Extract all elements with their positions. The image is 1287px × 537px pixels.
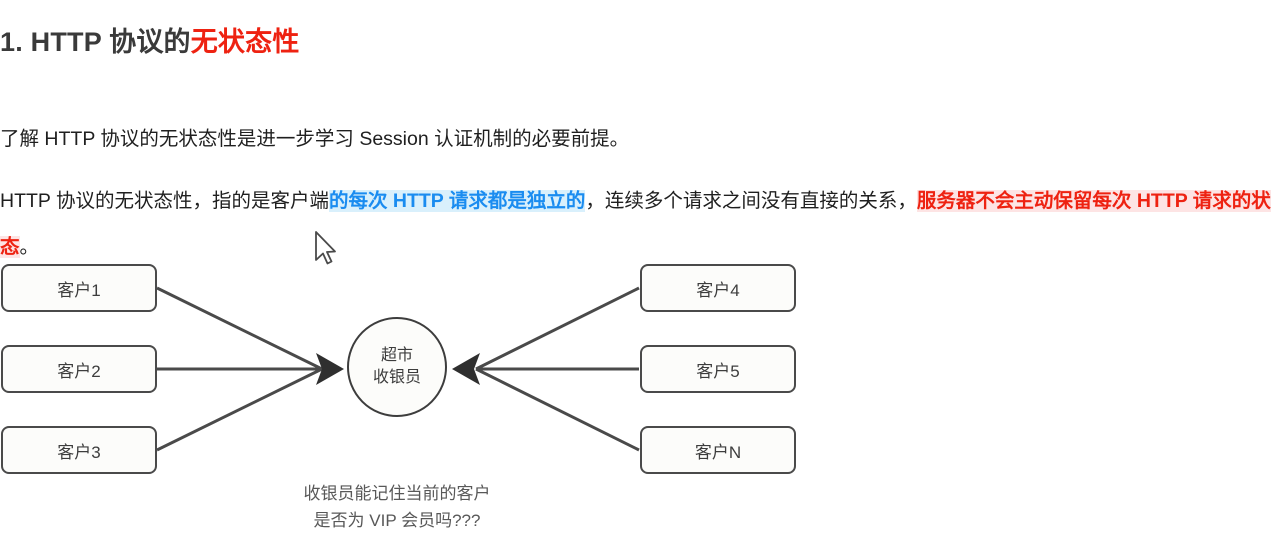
stateless-http-diagram: 客户1 客户2 客户3 客户4 客户5 客户N 超市 收银员 收银员能记住当前的… [0, 255, 830, 537]
connector-client4 [476, 288, 639, 369]
cashier-node-line1: 超市 [381, 345, 413, 367]
main-paragraph-segment-1: HTTP 协议的无状态性，指的是客户端 [0, 190, 329, 212]
diagram-caption: 收银员能记住当前的客户 是否为 VIP 会员吗??? [247, 480, 547, 534]
cashier-node-line2: 收银员 [373, 367, 421, 389]
highlighted-text-blue: 的每次 HTTP 请求都是独立的 [329, 190, 585, 212]
main-paragraph-segment-3: ，连续多个请求之间没有直接的关系， [585, 190, 917, 212]
page-title-emphasis: 无状态性 [191, 27, 300, 57]
client-box-4[interactable]: 客户4 [640, 264, 796, 312]
intro-paragraph: 了解 HTTP 协议的无状态性是进一步学习 Session 认证机制的必要前提。 [0, 116, 629, 162]
client-box-4-label: 客户4 [696, 276, 739, 301]
client-box-n-label: 客户N [695, 438, 741, 463]
client-box-3[interactable]: 客户3 [1, 426, 157, 474]
arrowhead-right-group [452, 353, 480, 385]
client-box-1[interactable]: 客户1 [1, 264, 157, 312]
client-box-2-label: 客户2 [57, 357, 100, 382]
page-title-plain: 1. HTTP 协议的 [0, 27, 191, 57]
client-box-5[interactable]: 客户5 [640, 345, 796, 393]
cashier-node[interactable]: 超市 收银员 [347, 317, 447, 417]
connector-client1 [157, 288, 322, 369]
client-box-2[interactable]: 客户2 [1, 345, 157, 393]
client-box-5-label: 客户5 [696, 357, 739, 382]
page-title: 1. HTTP 协议的无状态性 [0, 20, 300, 59]
diagram-caption-line2: 是否为 VIP 会员吗??? [247, 507, 547, 534]
connector-clientN [476, 369, 639, 450]
client-box-n[interactable]: 客户N [640, 426, 796, 474]
diagram-caption-line1: 收银员能记住当前的客户 [247, 480, 547, 507]
client-box-3-label: 客户3 [57, 438, 100, 463]
client-box-1-label: 客户1 [57, 276, 100, 301]
connector-client3 [157, 369, 322, 450]
